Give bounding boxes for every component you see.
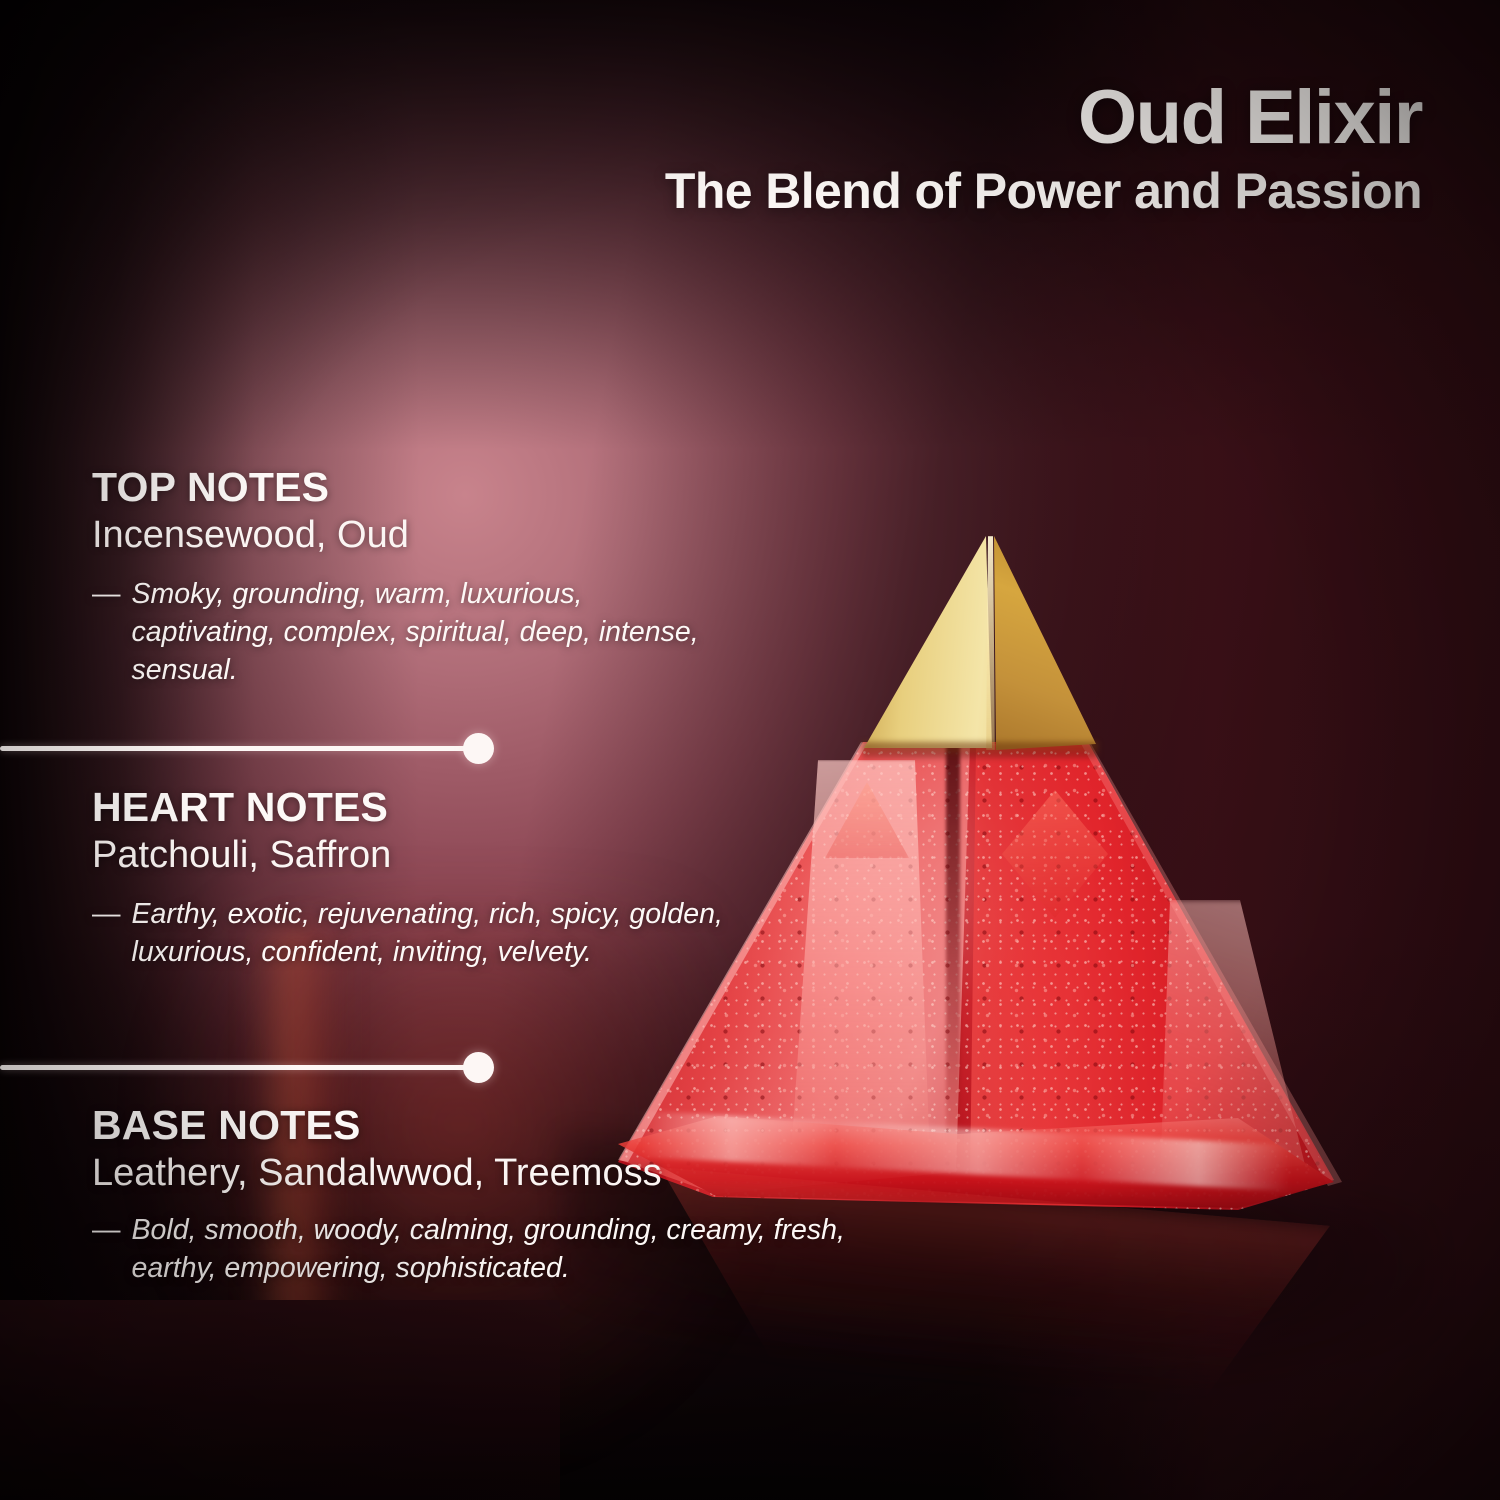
note-description: — Earthy, exotic, rejuvenating, rich, sp… (92, 896, 732, 972)
note-ingredients: Incensewood, Oud (92, 513, 732, 558)
note-block-top: TOP NOTES Incensewood, Oud — Smoky, grou… (92, 466, 732, 690)
gold-pyramid-cap (860, 536, 1098, 754)
em-dash: — (92, 1212, 121, 1288)
em-dash: — (92, 576, 121, 690)
fragrance-notes-list: TOP NOTES Incensewood, Oud — Smoky, grou… (0, 0, 720, 1500)
poster-canvas: Oud Elixir The Blend of Power and Passio… (0, 0, 1500, 1500)
divider-line (0, 1065, 487, 1070)
glass-edge-center (946, 744, 960, 1144)
note-block-heart: HEART NOTES Patchouli, Saffron — Earthy,… (92, 786, 732, 972)
note-ingredients: Leathery, Sandalwwod, Treemoss (92, 1151, 912, 1196)
note-description-text: Earthy, exotic, rejuvenating, rich, spic… (132, 896, 733, 972)
note-description: — Bold, smooth, woody, calming, groundin… (92, 1212, 912, 1288)
cap-edge-ridge (986, 536, 995, 750)
em-dash: — (92, 896, 121, 972)
note-divider-2 (0, 1065, 487, 1071)
note-heading: HEART NOTES (92, 786, 732, 829)
cap-seam-shadow (862, 742, 1098, 758)
note-description-text: Bold, smooth, woody, calming, grounding,… (132, 1212, 913, 1288)
divider-line (0, 746, 487, 751)
note-ingredients: Patchouli, Saffron (92, 833, 732, 878)
divider-dot (463, 733, 494, 764)
note-heading: BASE NOTES (92, 1104, 912, 1147)
divider-dot (463, 1052, 494, 1083)
note-description: — Smoky, grounding, warm, luxurious, cap… (92, 576, 732, 690)
note-heading: TOP NOTES (92, 466, 732, 509)
note-block-base: BASE NOTES Leathery, Sandalwwod, Treemos… (92, 1104, 912, 1288)
note-divider-1 (0, 746, 487, 752)
note-description-text: Smoky, grounding, warm, luxurious, capti… (132, 576, 733, 690)
